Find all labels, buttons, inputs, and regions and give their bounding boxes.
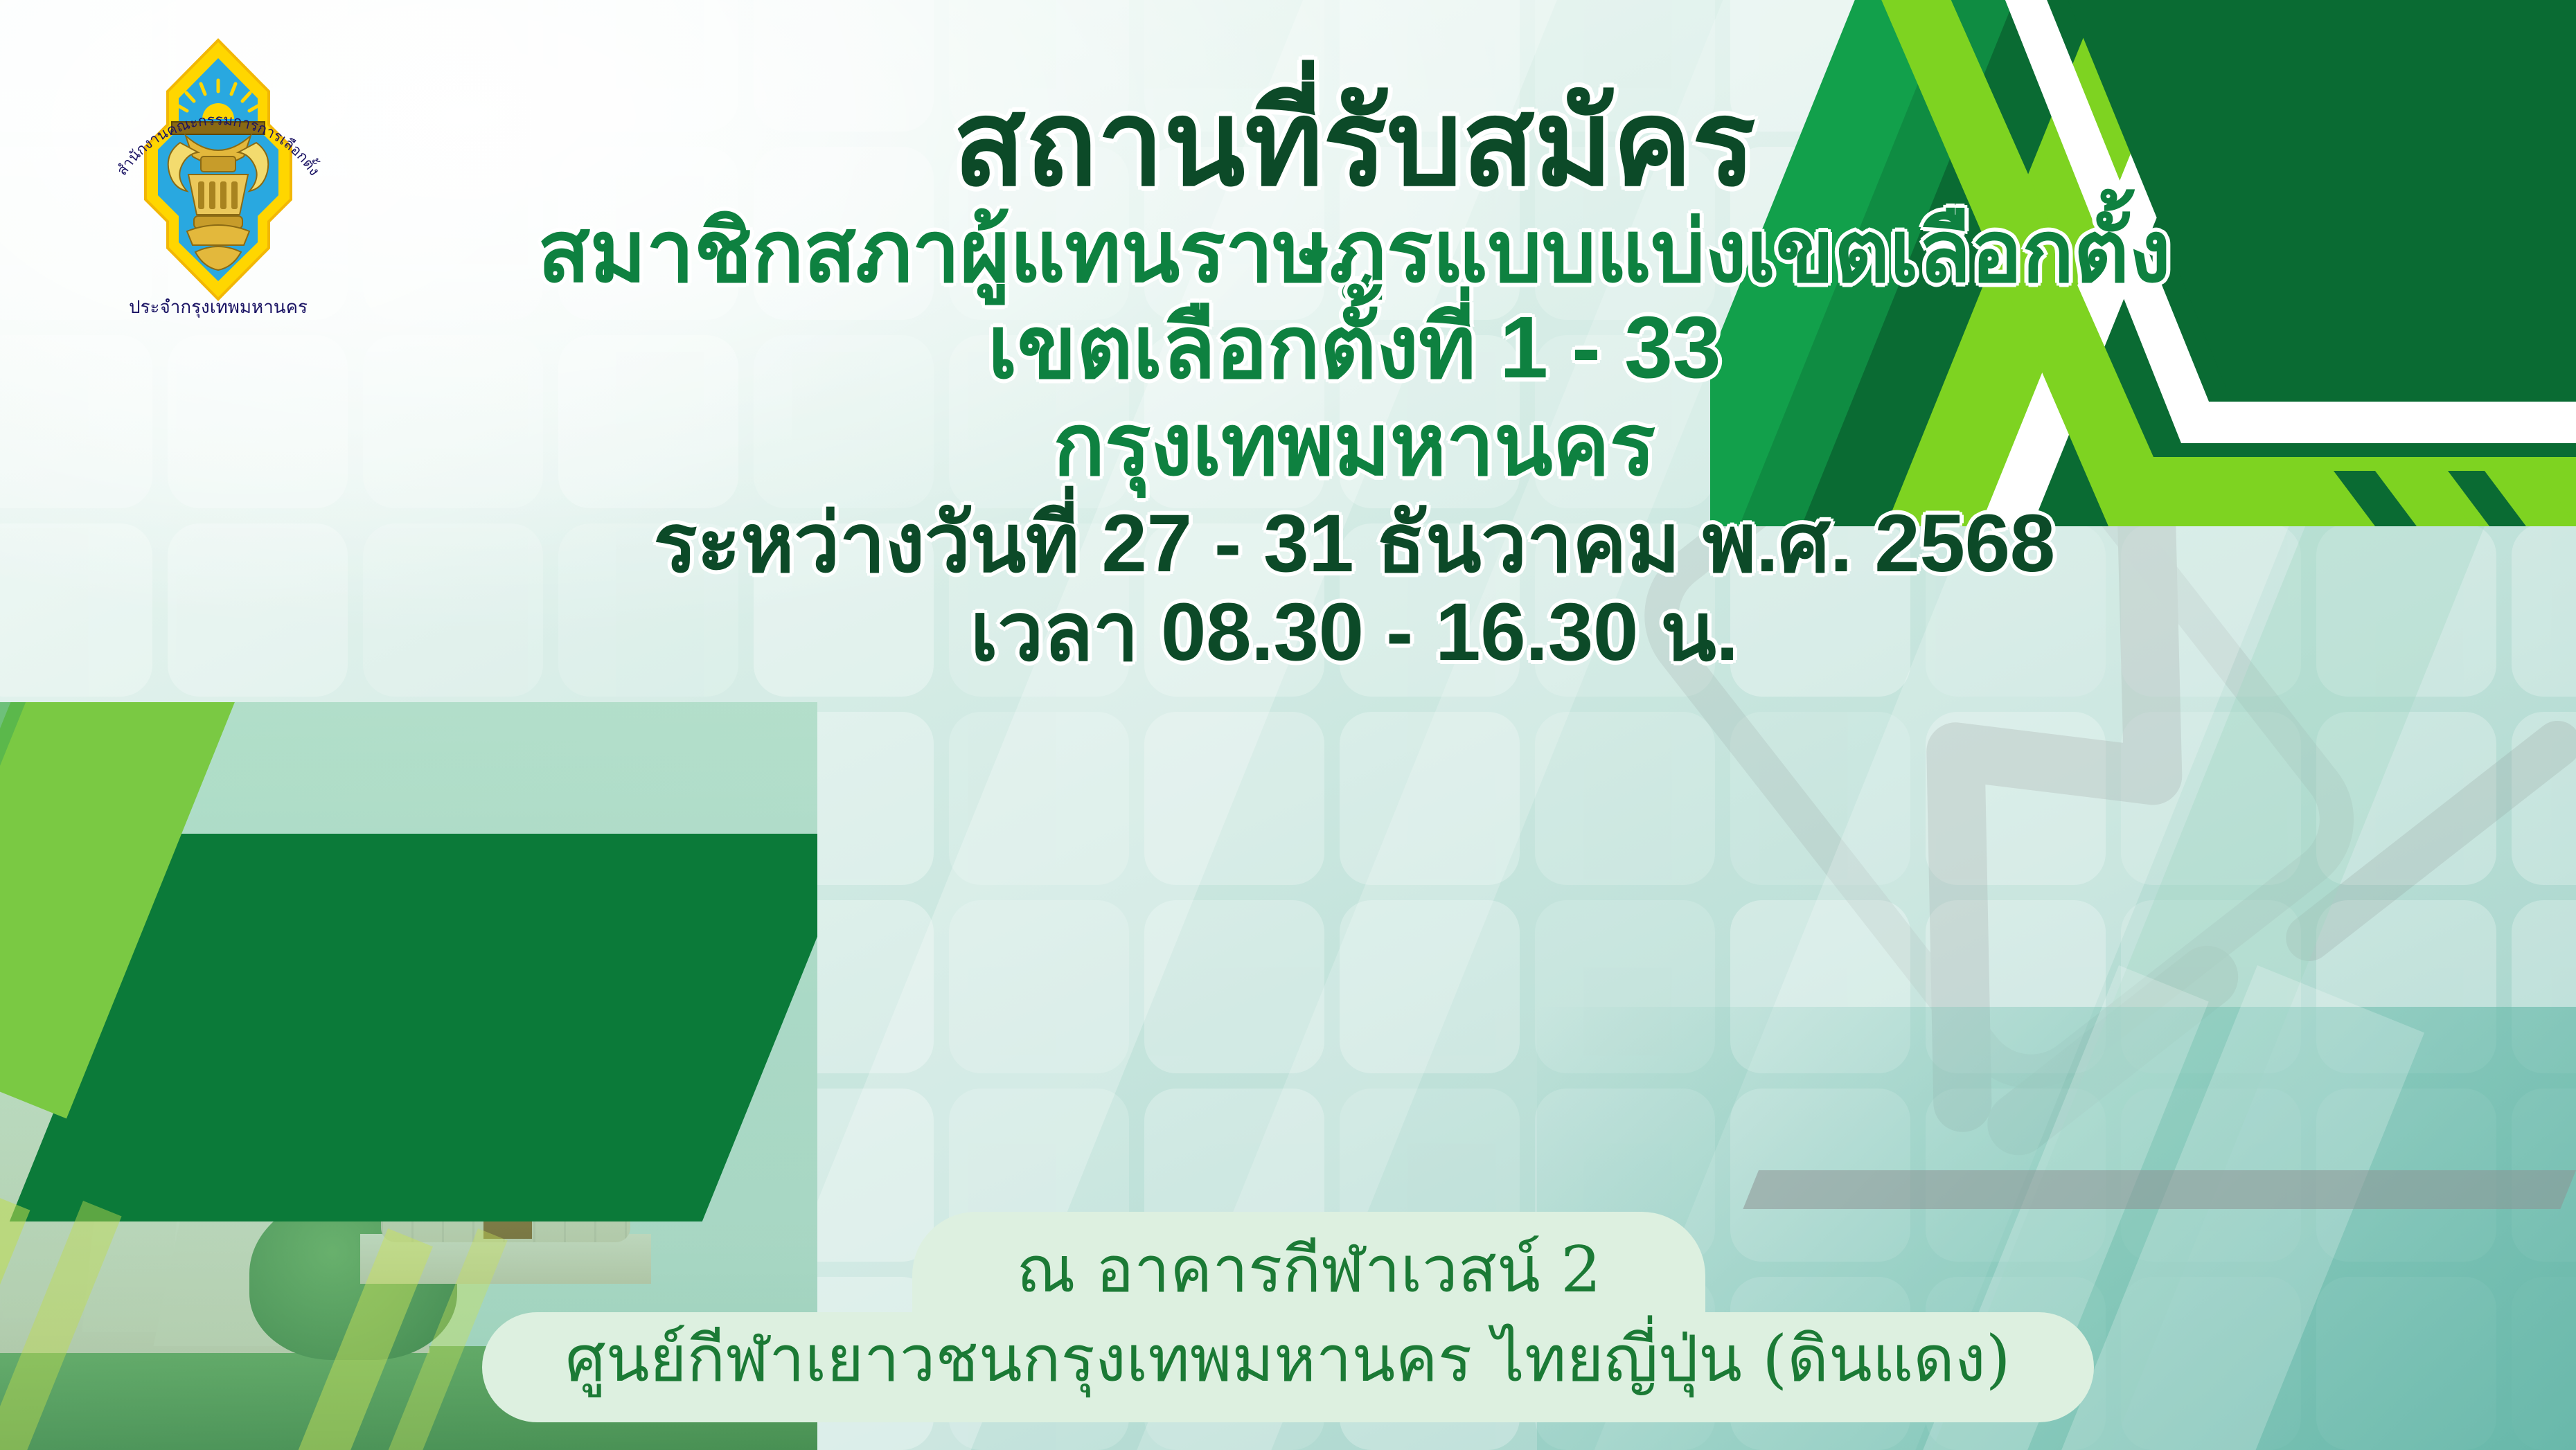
time-line: เวลา 08.30 - 16.30 น.	[298, 591, 2410, 674]
date-line: ระหว่างวันที่ 27 - 31 ธันวาคม พ.ศ. 2568	[298, 502, 2410, 585]
poster-canvas: สำนักงานคณะกรรมการการเลือกตั้ง ประจำกรุง…	[0, 0, 2576, 1450]
emblem-sub-text: ประจำกรุงเทพมหานคร	[129, 297, 308, 318]
venue-block: ณ อาคารกีฬาเวสน์ 2 ศูนย์กีฬาเยาวชนกรุงเท…	[0, 1212, 2576, 1422]
title-line-2: สมาชิกสภาผู้แทนราษฎรแบบแบ่งเขตเลือกตั้ง	[298, 208, 2410, 296]
grey-diagonal-bar	[1743, 1170, 2576, 1209]
venue-line-2: ศูนย์กีฬาเยาวชนกรุงเทพมหานคร ไทยญี่ปุ่น …	[482, 1312, 2093, 1422]
venue-line-1: ณ อาคารกีฬาเวสน์ 2	[912, 1212, 1705, 1314]
headline-block: สถานที่รับสมัคร สมาชิกสภาผู้แทนราษฎรแบบแ…	[298, 83, 2410, 674]
title-line-3: เขตเลือกตั้งที่ 1 - 33	[298, 303, 2410, 393]
title-line-1: สถานที่รับสมัคร	[298, 83, 2410, 204]
title-line-4: กรุงเทพมหานคร	[298, 402, 2410, 489]
